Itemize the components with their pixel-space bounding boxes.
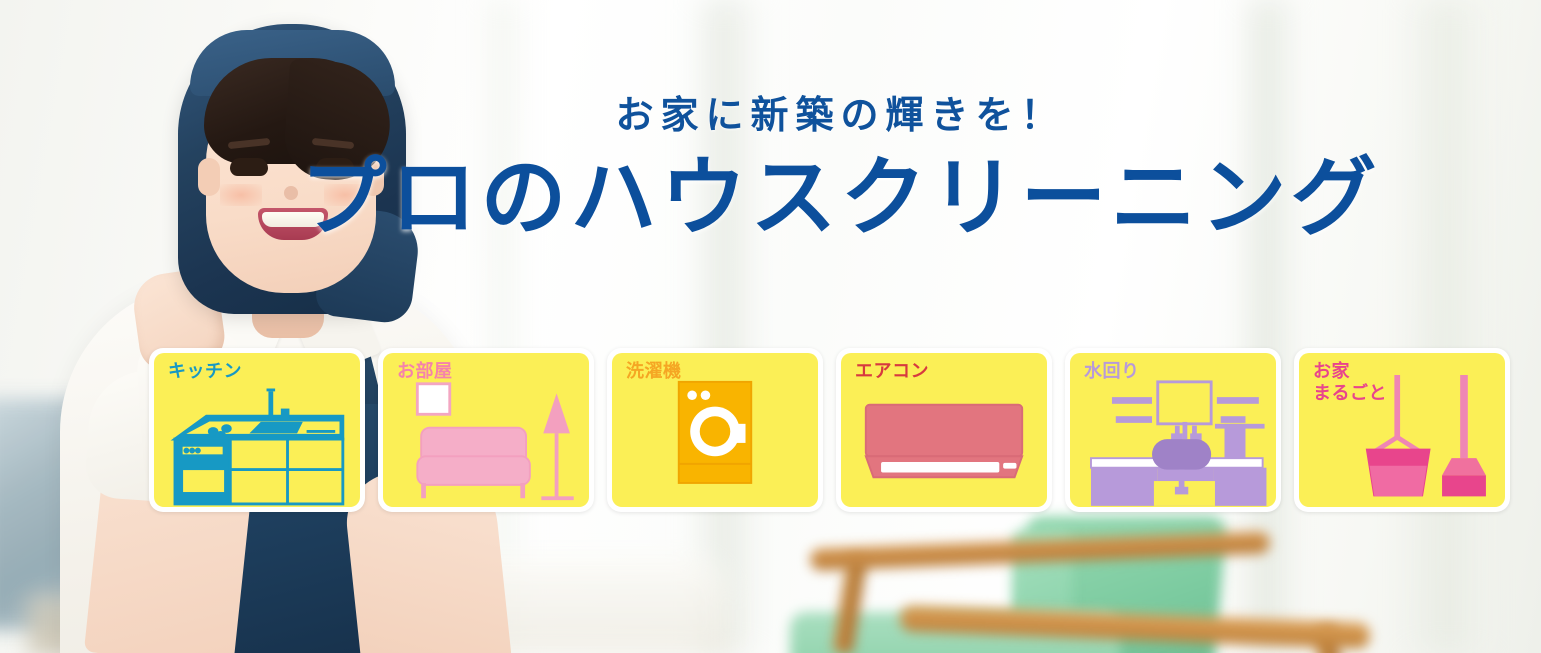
- service-card-kitchen[interactable]: キッチン: [149, 348, 365, 512]
- service-card-room[interactable]: お部屋: [378, 348, 594, 512]
- washbasin-icon: [1070, 375, 1276, 507]
- hero-subtitle: お家に新築の輝きを！: [0, 84, 1541, 139]
- service-card-aircon-label: エアコン: [855, 361, 929, 383]
- service-card-whole-house-inner: お家 まるごと: [1299, 353, 1505, 507]
- service-card-washer-inner: 洗濯機: [612, 353, 818, 507]
- service-card-room-inner: お部屋: [383, 353, 589, 507]
- service-card-whole-house[interactable]: お家 まるごと: [1294, 348, 1510, 512]
- washing-machine-icon: [612, 375, 818, 507]
- service-card-aircon[interactable]: エアコン: [836, 348, 1052, 512]
- hero-banner: お家に新築の輝きを！ プロのハウスクリーニング キッチン: [0, 0, 1541, 653]
- service-card-list: キッチン: [149, 348, 1510, 512]
- service-card-waterworks-label: 水回り: [1084, 361, 1140, 383]
- service-card-washer[interactable]: 洗濯機: [607, 348, 823, 512]
- kitchen-icon: [154, 375, 360, 507]
- room-sofa-icon: [383, 375, 589, 507]
- service-card-aircon-inner: エアコン: [841, 353, 1047, 507]
- service-card-waterworks-inner: 水回り: [1070, 353, 1276, 507]
- service-card-kitchen-inner: キッチン: [154, 353, 360, 507]
- service-card-waterworks[interactable]: 水回り: [1065, 348, 1281, 512]
- service-card-whole-house-label: お家 まるごと: [1313, 361, 1387, 405]
- service-card-kitchen-label: キッチン: [168, 361, 242, 383]
- air-conditioner-icon: [841, 375, 1047, 507]
- hero-title: プロのハウスクリーニング: [0, 155, 1541, 243]
- service-card-washer-label: 洗濯機: [626, 361, 682, 383]
- service-card-room-label: お部屋: [397, 361, 453, 383]
